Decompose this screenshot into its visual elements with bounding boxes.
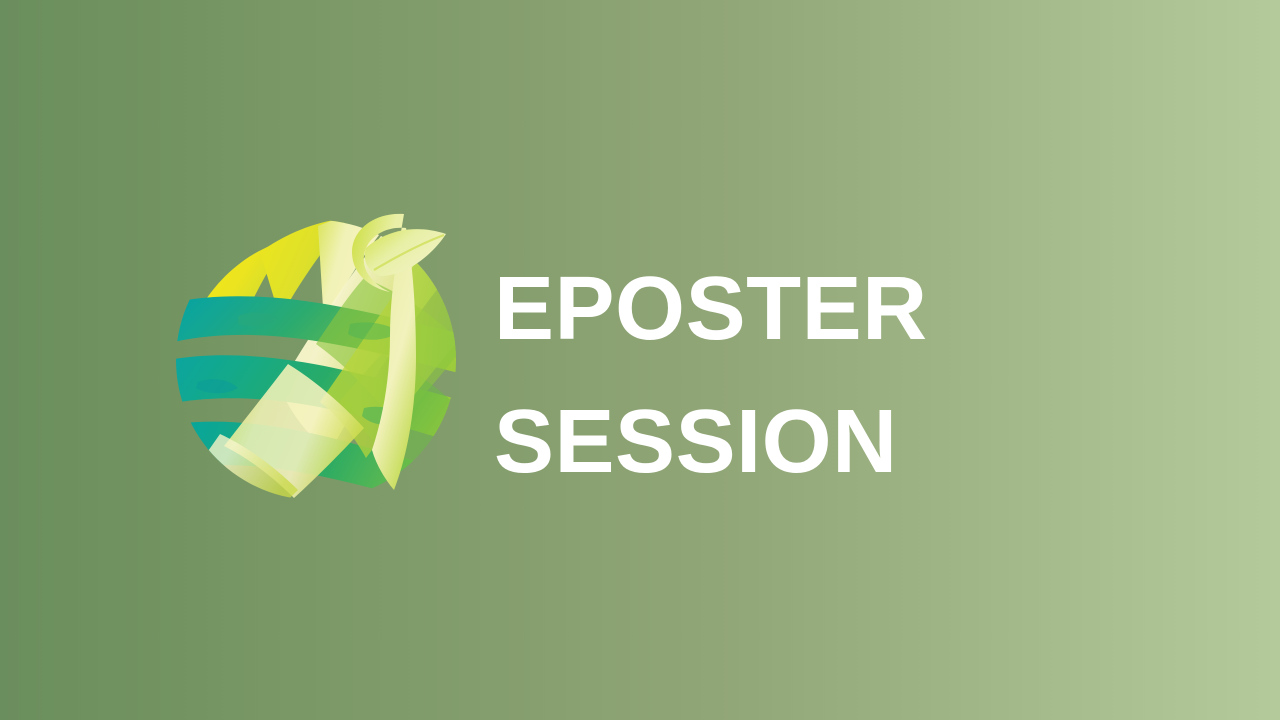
- title-line-1: EPOSTER: [494, 243, 1094, 376]
- brand-logo: [168, 196, 468, 522]
- slide-title: EPOSTER SESSION: [494, 243, 1094, 509]
- title-line-2: SESSION: [494, 376, 1094, 509]
- title-slide: EPOSTER SESSION: [0, 0, 1280, 720]
